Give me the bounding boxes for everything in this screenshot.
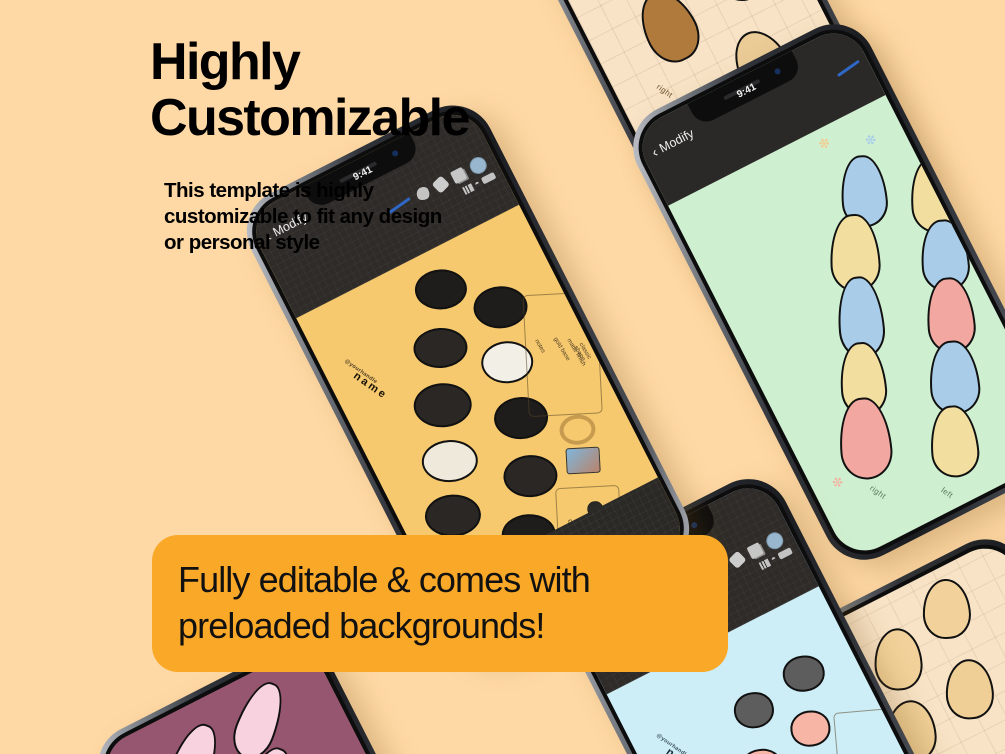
nail-swatch[interactable] bbox=[781, 653, 827, 694]
nail-swatch[interactable] bbox=[421, 439, 479, 484]
ring-sticker bbox=[558, 413, 597, 447]
nail-swatch[interactable] bbox=[413, 382, 473, 429]
poster-canvas: right left 9:41 ‹ Modify bbox=[0, 0, 1005, 754]
label-left: left bbox=[939, 486, 954, 500]
notes-title: notes bbox=[533, 339, 546, 355]
headline-line-1: Highly bbox=[150, 33, 299, 91]
callout-line-1: Fully editable & comes with bbox=[178, 559, 590, 600]
flower-icon: ❇ bbox=[863, 131, 880, 150]
nail-swatch[interactable] bbox=[226, 676, 292, 754]
note-line: long wear bbox=[580, 323, 599, 343]
nail-swatch[interactable] bbox=[412, 327, 468, 370]
nail-swatch[interactable] bbox=[927, 404, 981, 480]
flower-icon: ❇ bbox=[829, 473, 846, 492]
nail-swatch[interactable] bbox=[472, 285, 528, 330]
nail-swatch[interactable] bbox=[502, 454, 558, 499]
page-title: Highly Customizable bbox=[150, 34, 570, 146]
callout-line-2: preloaded backgrounds! bbox=[178, 605, 544, 646]
status-time: 9:41 bbox=[735, 81, 758, 100]
notes-panel[interactable]: notes gold base matte finish classic sha… bbox=[522, 291, 602, 417]
headline-line-2: Customizable bbox=[150, 89, 469, 147]
nail-swatch[interactable] bbox=[788, 708, 832, 749]
callout-banner: Fully editable & comes with preloaded ba… bbox=[152, 535, 728, 672]
nail-swatch[interactable] bbox=[414, 268, 468, 311]
nail-swatch[interactable] bbox=[836, 395, 895, 481]
nail-swatch[interactable] bbox=[162, 718, 227, 754]
phone-green-body: 9:41 ‹ Modify ❇ ❇ ❇ bbox=[626, 17, 1005, 568]
layers-icon[interactable] bbox=[746, 542, 763, 559]
flower-icon: ❇ bbox=[816, 134, 833, 153]
nail-swatch[interactable] bbox=[738, 747, 784, 754]
polish-sticker bbox=[565, 447, 600, 475]
nail-swatch[interactable] bbox=[732, 690, 776, 731]
label-right: right bbox=[868, 484, 888, 501]
phone-green-screen[interactable]: 9:41 ‹ Modify ❇ ❇ ❇ bbox=[631, 22, 1005, 562]
nail-swatch[interactable] bbox=[424, 493, 482, 538]
subtitle-text: This template is highly customizable to … bbox=[164, 178, 464, 257]
